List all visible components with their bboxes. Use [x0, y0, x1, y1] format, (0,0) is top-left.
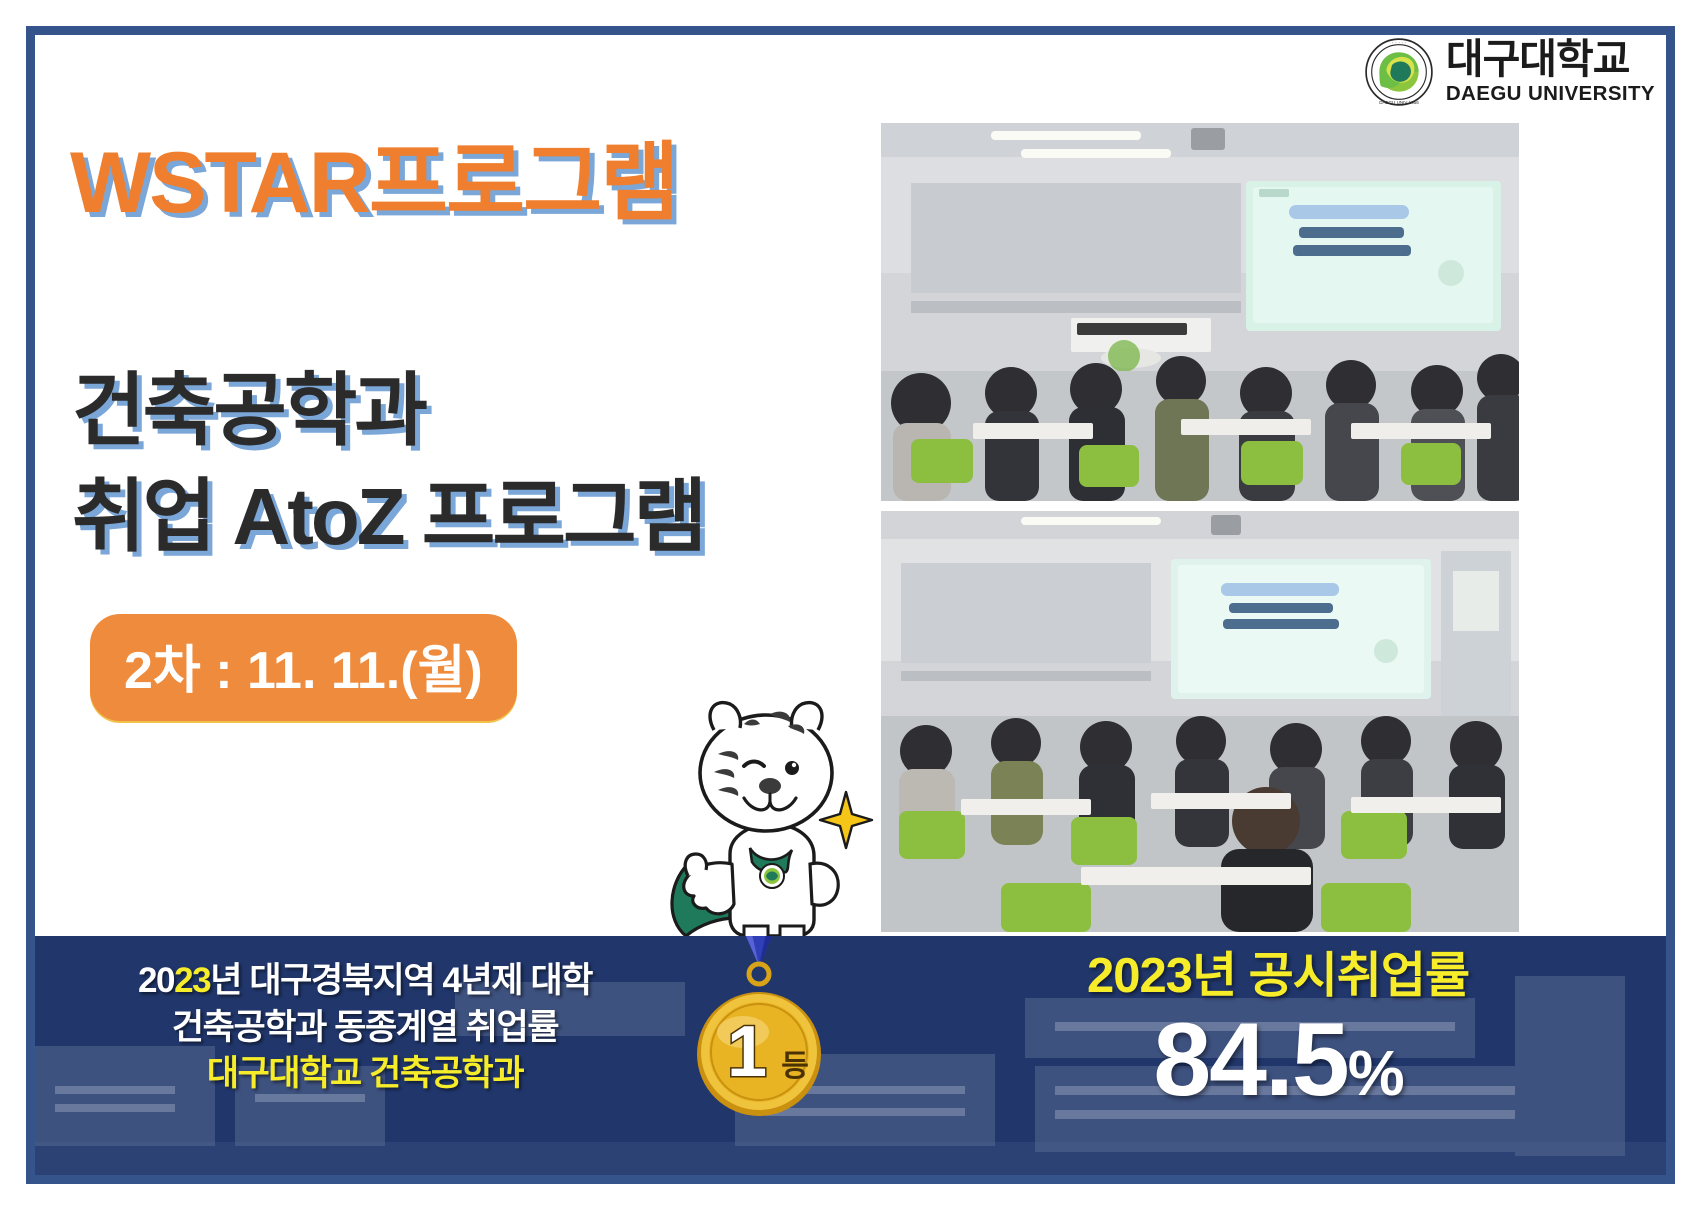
employment-rate-label: 2023년 공시취업률	[918, 950, 1638, 1004]
stat-year-prefix: 20	[138, 961, 174, 1000]
classroom-photo-bottom	[881, 511, 1519, 932]
stat-year-highlight: 23	[174, 961, 210, 1000]
stat-line-1: 2023년 대구경북지역 4년제 대학	[75, 958, 655, 1005]
poster-root: · · · · · DAEGU UNIV 1956 대구대학교 DAEGU UN…	[0, 0, 1701, 1210]
page-title: 건축공학과 취업 AtoZ 프로그램	[72, 358, 704, 569]
logo-korean-text: 대구대학교	[1446, 39, 1655, 80]
logo-english-text: DAEGU UNIVERSITY	[1446, 84, 1655, 105]
svg-text:DAEGU UNIV 1956: DAEGU UNIV 1956	[1379, 100, 1419, 105]
stats-banner: 2023년 대구경북지역 4년제 대학 건축공학과 동종계열 취업률 대구대학교…	[35, 936, 1666, 1175]
stat-line-3: 대구대학교 건축공학과	[75, 1051, 655, 1098]
program-title: WSTAR프로그램	[70, 112, 677, 237]
svg-text:1: 1	[727, 1012, 767, 1092]
employment-rate-number: 84.5	[1153, 1002, 1347, 1118]
employment-rank-stat: 2023년 대구경북지역 4년제 대학 건축공학과 동종계열 취업률 대구대학교…	[75, 958, 655, 1098]
employment-rate-stat: 2023년 공시취업률 84.5%	[918, 950, 1638, 1115]
classroom-photo-top	[881, 123, 1519, 501]
heading-line-2: 취업 AtoZ 프로그램	[72, 464, 704, 570]
svg-text:등: 등	[781, 1050, 809, 1083]
stat-line-1-suffix: 년 대구경북지역 4년제 대학	[210, 961, 592, 1000]
university-seal-icon: · · · · · DAEGU UNIV 1956	[1364, 37, 1434, 107]
svg-text:· · · · ·: · · · · ·	[1392, 41, 1406, 47]
white-tiger-mascot	[640, 668, 890, 958]
first-place-medal-icon: 1 등	[673, 936, 845, 1130]
employment-rate-unit: %	[1348, 1037, 1403, 1109]
university-logo: · · · · · DAEGU UNIV 1956 대구대학교 DAEGU UN…	[1364, 36, 1655, 108]
stat-line-2: 건축공학과 동종계열 취업률	[75, 1005, 655, 1052]
date-badge: 2차 : 11. 11.(월)	[90, 614, 517, 721]
heading-line-1: 건축공학과	[72, 366, 425, 455]
employment-rate-value-wrap: 84.5%	[918, 1006, 1638, 1115]
